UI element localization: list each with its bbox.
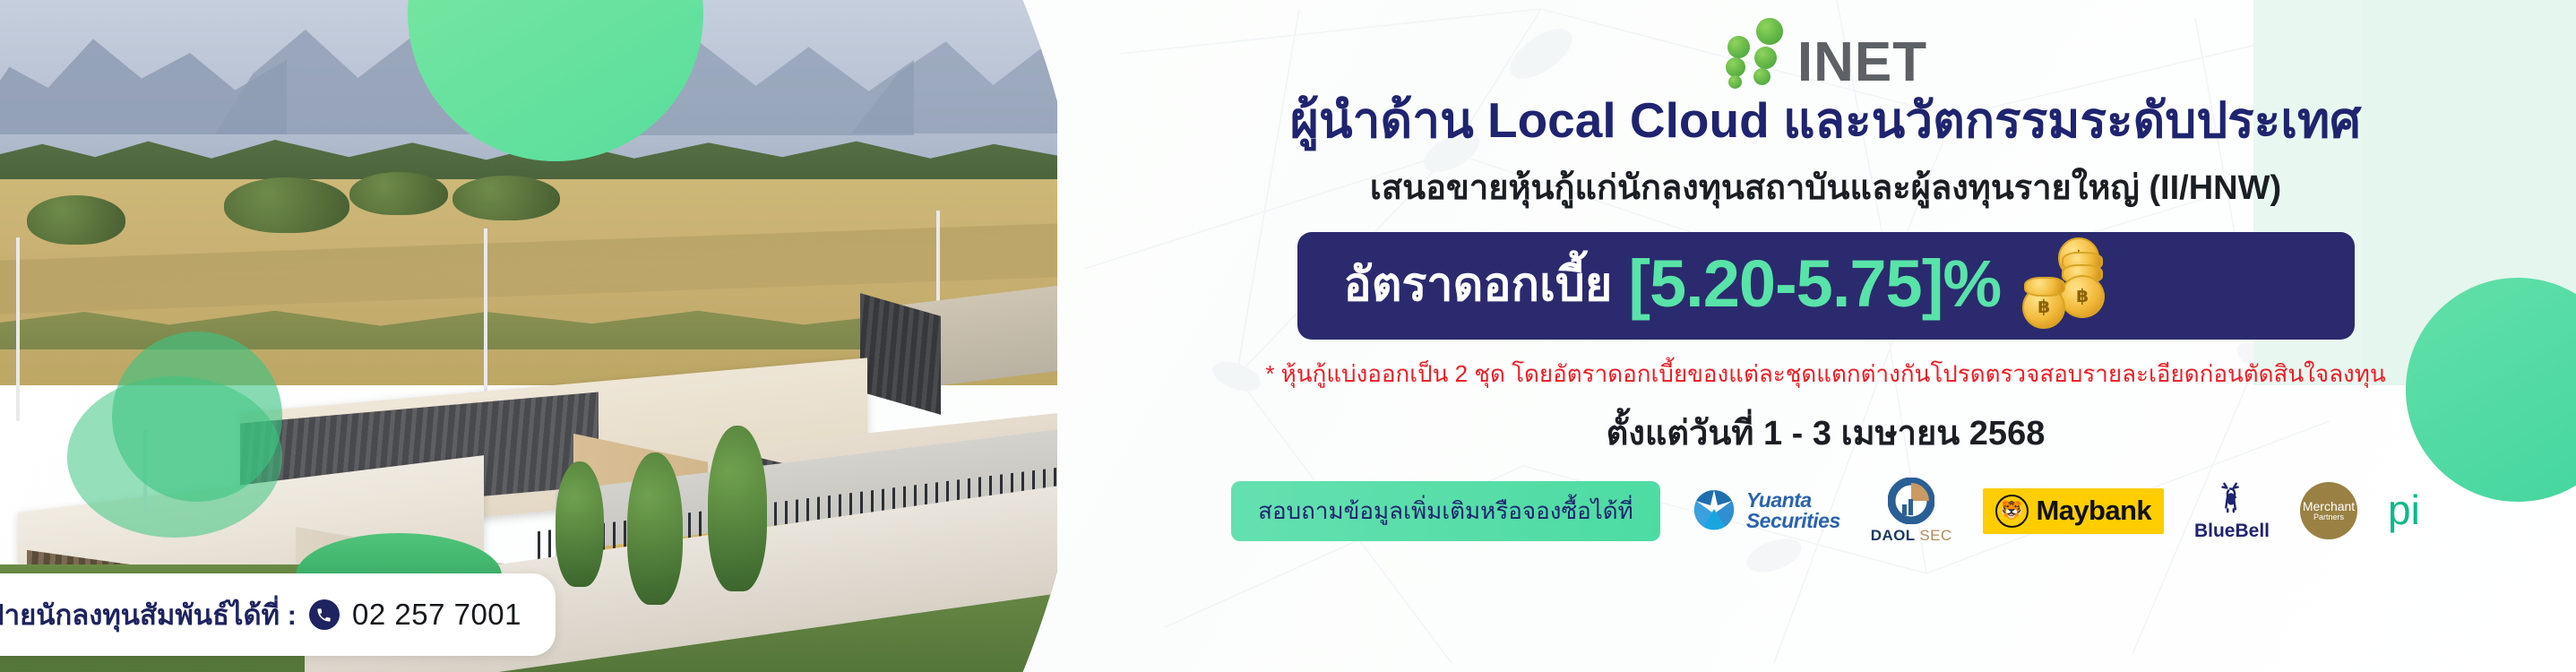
daol-circle-icon [1888,478,1934,524]
interest-rate-box: อัตราดอกเบี้ย [5.20-5.75]% ฿ ฿ ฿ [1297,232,2355,340]
merchant-line1: Merchant [2303,500,2355,513]
promo-banner: ติดต่อฝ่ายนักลงทุนสัมพันธ์ได้ที่ : 02 25… [0,0,2576,672]
yuanta-wordmark: Yuanta Securities [1746,490,1840,531]
contact-label: ติดต่อฝ่ายนักลงทุนสัมพันธ์ได้ที่ : [0,592,297,637]
yuanta-line2: Securities [1746,509,1840,532]
partners-row: สอบถามข้อมูลเพิ่มเติมหรือจองซื้อได้ที่ Y… [1231,478,2420,545]
bluebell-wordmark: BlueBell [2194,521,2270,542]
tree [627,452,683,605]
inet-logo: INET [1724,13,1927,88]
offer-date-text: ตั้งแต่วันที่ 1 - 3 เมษายน 2568 [1607,405,2046,460]
utility-pole [484,228,487,408]
phone-icon [309,599,340,630]
subheadline: เสนอขายหุ้นกู้แก่นักลงทุนสถาบันและผู้ลงท… [1370,159,2281,214]
maybank-wordmark: Maybank [2037,495,2151,527]
investor-relations-contact-box[interactable]: ติดต่อฝ่ายนักลงทุนสัมพันธ์ได้ที่ : 02 25… [0,573,556,656]
yuanta-star-icon [1691,487,1737,534]
utility-pole [16,237,20,421]
interest-rate-value: [5.20-5.75]% [1628,251,2001,317]
inquiry-cta-button[interactable]: สอบถามข้อมูลเพิ่มเติมหรือจองซื้อได้ที่ [1231,481,1660,541]
partner-logo-daol-sec[interactable]: DAOL SEC [1871,478,1952,545]
tree [349,172,448,215]
tree [708,426,767,591]
partner-logo-bluebell[interactable]: BlueBell [2194,480,2270,542]
inet-logo-text: INET [1797,37,1927,88]
partner-logo-merchant-partners[interactable]: Merchant Partners [2300,482,2357,539]
tree [556,461,604,587]
pi-wordmark: pi [2388,492,2420,529]
footnote-text: * หุ้นกู้แบ่งออกเป็น 2 ชุด โดยอัตราดอกเบ… [1265,356,2385,392]
daol-line2: SEC [1919,527,1951,544]
green-circle-overlay-2 [67,376,282,538]
tree [224,177,349,233]
deer-icon [2215,480,2249,520]
maybank-tiger-icon: 🐯 [1995,495,2029,528]
content-column: INET ผู้นำด้าน Local Cloud และนวัตกรรมระ… [1075,0,2576,672]
coin: ฿ [2060,275,2105,318]
partner-logo-maybank[interactable]: 🐯 Maybank [1983,488,2164,534]
tree [27,195,125,245]
inet-dots-logo-icon [1724,13,1792,88]
partner-logo-pi[interactable]: pi [2388,492,2420,529]
merchant-line2: Partners [2313,513,2344,521]
interest-rate-label: อัตราดอกเบี้ย [1344,246,1613,321]
headline: ผู้นำด้าน Local Cloud และนวัตกรรมระดับปร… [1290,93,2361,149]
daol-wordmark: DAOL SEC [1871,527,1952,545]
contact-phone-number[interactable]: 02 257 7001 [352,598,521,632]
tree [452,176,560,220]
daol-line1: DAOL [1871,527,1915,544]
partner-logo-yuanta[interactable]: Yuanta Securities [1691,487,1840,534]
gold-coins-icon: ฿ ฿ ฿ [2022,237,2119,331]
